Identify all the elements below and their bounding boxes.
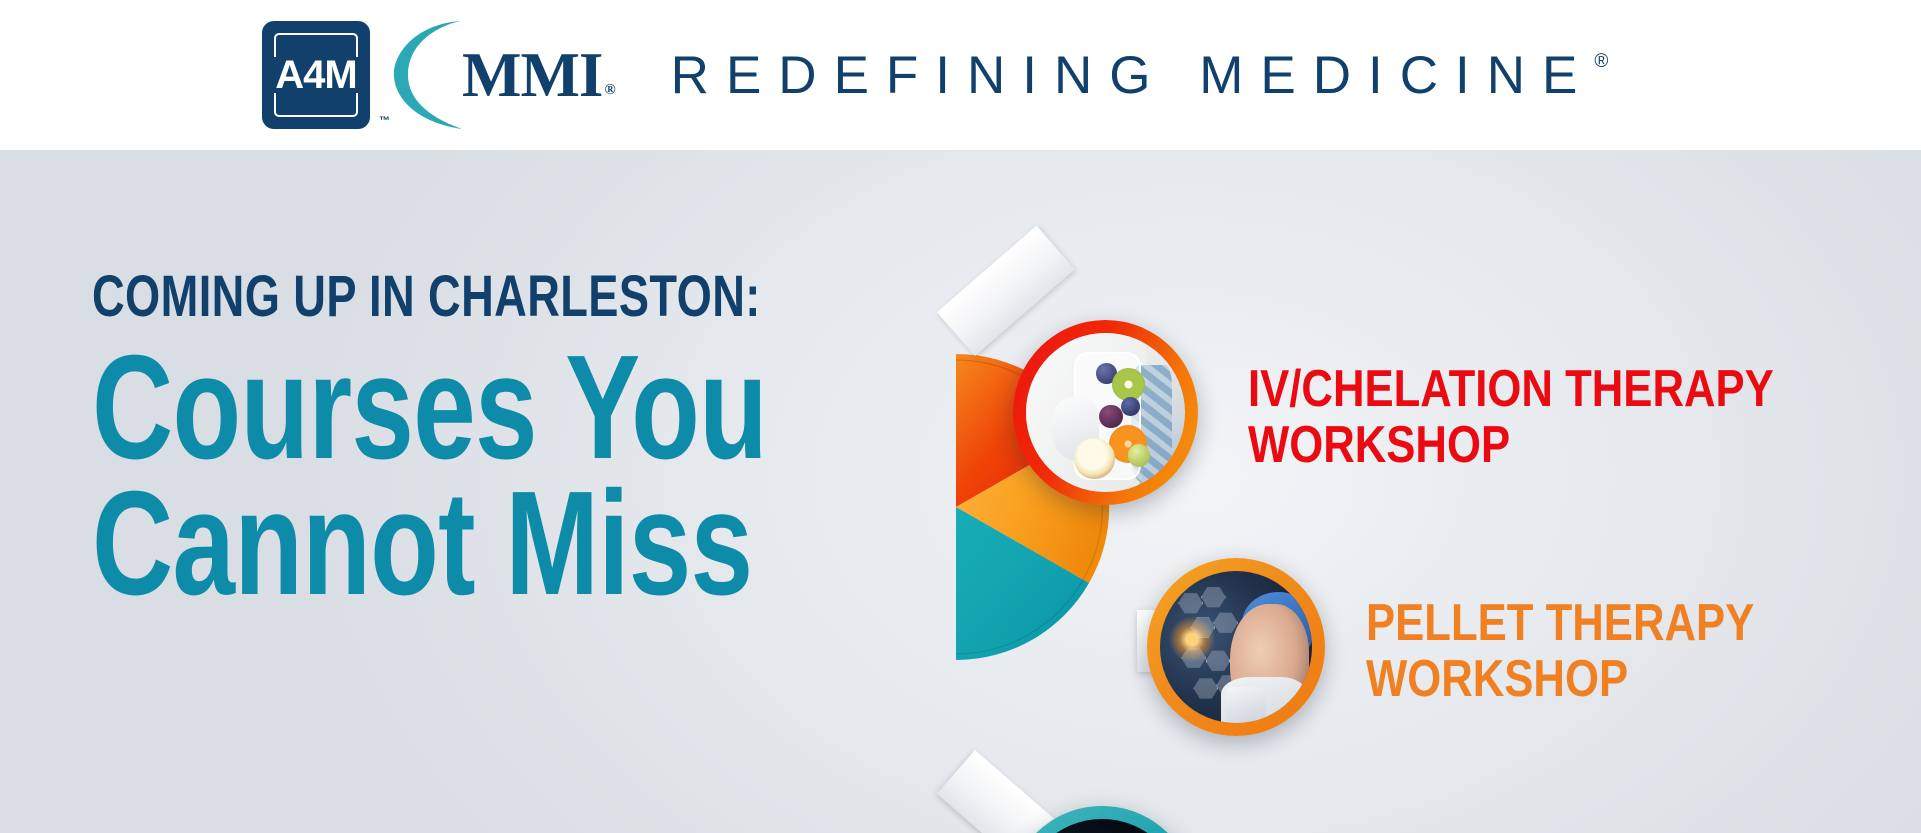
photo-clinician-hexagon-hud <box>1160 571 1312 723</box>
label-line-2: WORKSHOP <box>1366 652 1754 708</box>
headline-copy-block: COMING UP IN CHARLESTON: Courses You Can… <box>92 268 942 612</box>
label-line-2: WORKSHOP <box>1248 418 1774 474</box>
photo-iv-bag-with-fruit <box>1026 333 1185 492</box>
label-line-1: MODULE VIII: LONGEVITY <box>1218 828 1845 833</box>
course-node-pellet-therapy[interactable] <box>1147 558 1325 736</box>
eyebrow-text: COMING UP IN CHARLESTON: <box>92 268 755 326</box>
tagline-registered-symbol: ® <box>1594 51 1608 72</box>
mmi-logo-label: MMI® <box>462 44 613 107</box>
headline-line-1: Courses You <box>92 340 738 476</box>
course-node-iv-chelation[interactable] <box>1013 320 1198 505</box>
brand-header-bar: A4M ™ MMI® REDEFINING MEDICINE® <box>0 0 1921 150</box>
promotional-banner: A4M ™ MMI® REDEFINING MEDICINE® COMING U… <box>0 0 1921 833</box>
brand-tagline: REDEFINING MEDICINE® <box>671 49 1609 102</box>
label-line-1: IV/CHELATION THERAPY <box>1248 362 1774 418</box>
mmi-registered-symbol: ® <box>604 82 614 98</box>
course-label-iv-chelation: IV/CHELATION THERAPY WORKSHOP <box>1248 362 1774 473</box>
banner-stage: COMING UP IN CHARLESTON: Courses You Can… <box>0 150 1921 833</box>
eyebrow-bold-part: CHARLESTON: <box>428 264 761 329</box>
label-line-1: PELLET THERAPY <box>1366 596 1754 652</box>
headline-line-2: Cannot Miss <box>92 476 738 612</box>
course-label-pellet-therapy: PELLET THERAPY WORKSHOP <box>1366 596 1754 707</box>
eyebrow-light-part: COMING UP IN <box>92 264 428 329</box>
a4m-logo-label: A4M <box>267 55 365 95</box>
main-headline: Courses You Cannot Miss <box>92 340 738 612</box>
brand-logo-lockup[interactable]: A4M ™ MMI® REDEFINING MEDICINE® <box>262 16 1608 134</box>
course-label-module-viii: MODULE VIII: LONGEVITY MEDICINE AND BIO-… <box>1218 828 1845 833</box>
a4m-trademark-symbol: ™ <box>379 115 390 127</box>
mmi-logo-group[interactable]: MMI® <box>400 21 613 129</box>
a4m-logo-icon[interactable]: A4M ™ <box>262 21 370 129</box>
photo-dispersing-human-head <box>1021 819 1183 833</box>
